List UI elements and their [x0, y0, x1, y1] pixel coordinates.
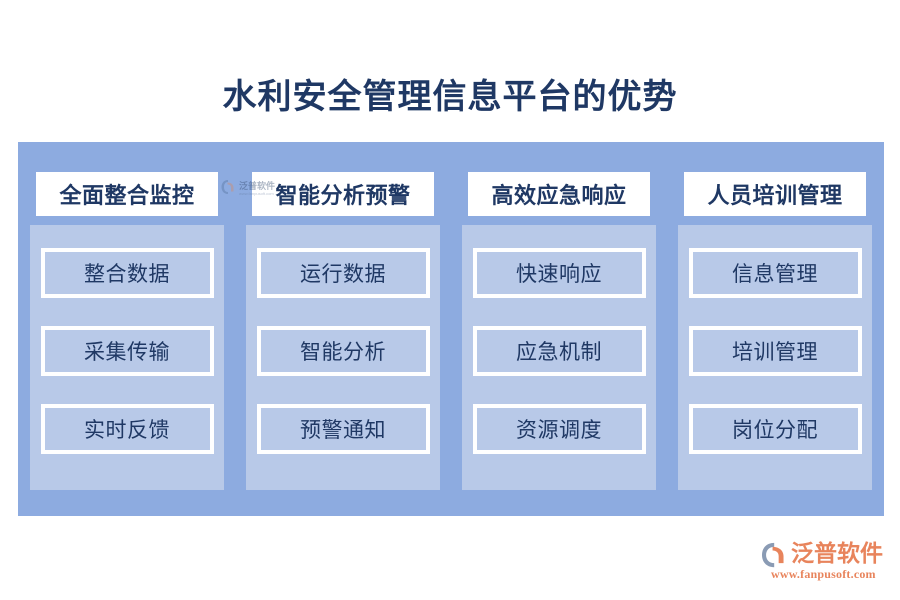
- item-box[interactable]: 运行数据: [257, 248, 430, 298]
- item-box[interactable]: 培训管理: [689, 326, 862, 376]
- advantage-column-2: 智能分析预警 运行数据 智能分析 预警通知: [246, 142, 440, 516]
- brand-name: 泛普软件: [791, 540, 883, 566]
- item-box[interactable]: 信息管理: [689, 248, 862, 298]
- item-box[interactable]: 智能分析: [257, 326, 430, 376]
- brand-logo-text: 泛普软件 www.fanpusoft.com: [791, 540, 883, 581]
- advantage-panel: 全面整合监控 整合数据 采集传输 实时反馈 智能分析预警 运行数据 智能分析 预…: [18, 142, 884, 516]
- item-box[interactable]: 采集传输: [41, 326, 214, 376]
- brand-url: www.fanpusoft.com: [771, 567, 883, 581]
- column-header-1: 全面整合监控: [36, 172, 218, 216]
- column-body-3: 快速响应 应急机制 资源调度: [462, 225, 656, 490]
- column-header-2: 智能分析预警: [252, 172, 434, 216]
- column-header-4: 人员培训管理: [684, 172, 866, 216]
- advantage-column-3: 高效应急响应 快速响应 应急机制 资源调度: [462, 142, 656, 516]
- item-box[interactable]: 岗位分配: [689, 404, 862, 454]
- column-body-2: 运行数据 智能分析 预警通知: [246, 225, 440, 490]
- columns-row: 全面整合监控 整合数据 采集传输 实时反馈 智能分析预警 运行数据 智能分析 预…: [18, 142, 884, 516]
- column-body-1: 整合数据 采集传输 实时反馈: [30, 225, 224, 490]
- item-box[interactable]: 实时反馈: [41, 404, 214, 454]
- page-title: 水利安全管理信息平台的优势: [0, 76, 900, 120]
- item-box[interactable]: 快速响应: [473, 248, 646, 298]
- column-header-3: 高效应急响应: [468, 172, 650, 216]
- column-body-4: 信息管理 培训管理 岗位分配: [678, 225, 872, 490]
- advantage-column-1: 全面整合监控 整合数据 采集传输 实时反馈: [30, 142, 224, 516]
- brand-logo: 泛普软件 www.fanpusoft.com: [762, 540, 890, 586]
- item-box[interactable]: 资源调度: [473, 404, 646, 454]
- item-box[interactable]: 预警通知: [257, 404, 430, 454]
- advantage-column-4: 人员培训管理 信息管理 培训管理 岗位分配: [678, 142, 872, 516]
- item-box[interactable]: 应急机制: [473, 326, 646, 376]
- item-box[interactable]: 整合数据: [41, 248, 214, 298]
